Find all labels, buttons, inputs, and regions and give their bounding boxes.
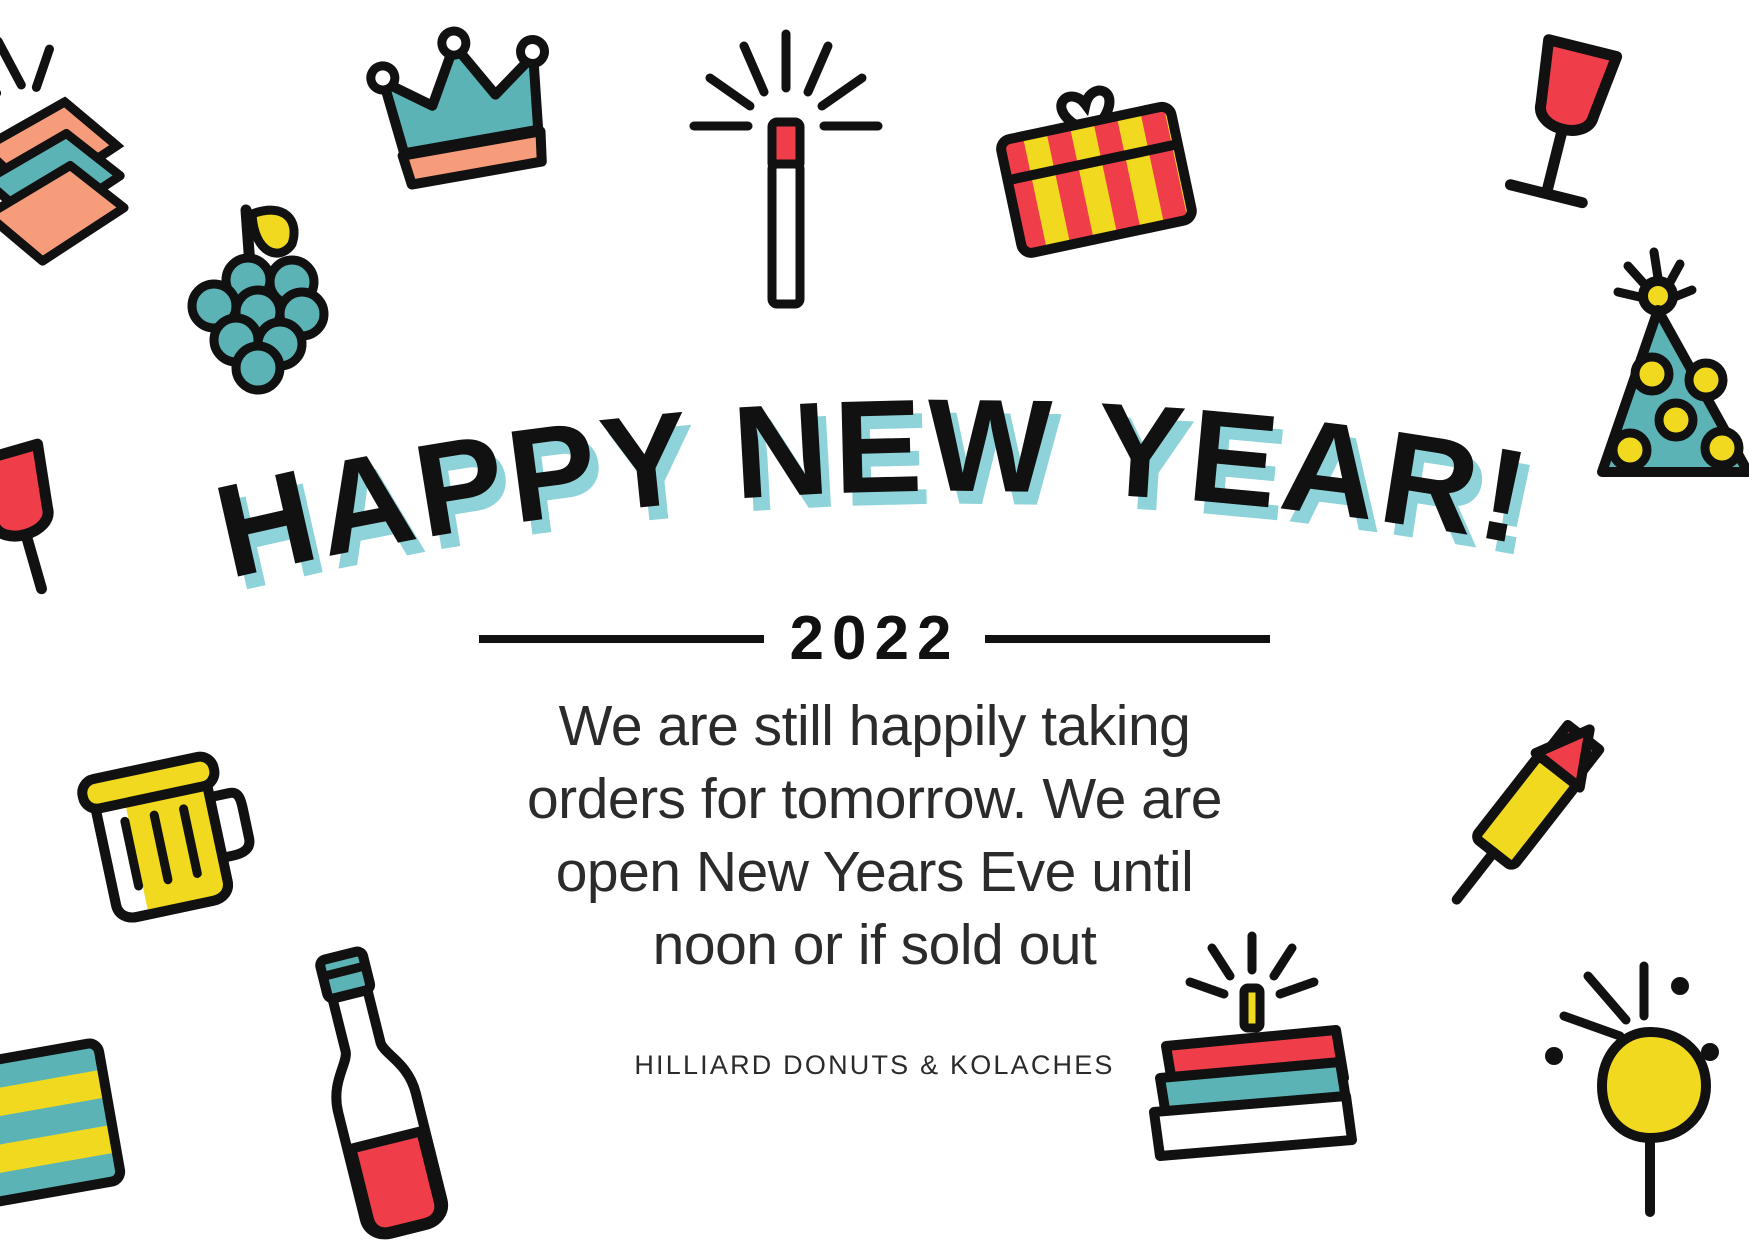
crown-icon [376, 24, 556, 199]
business-name: HILLIARD DONUTS & KOLACHES [0, 1050, 1749, 1081]
message-block: We are still happily taking orders for t… [0, 690, 1749, 982]
message-line: open New Years Eve until [0, 836, 1749, 909]
sparkler-icon [686, 26, 886, 316]
gift-box-icon [990, 78, 1200, 268]
confetti-popper-icon [1524, 960, 1749, 1240]
headline-arc: HAPPY NEW YEAR! HAPPY NEW YEAR! [0, 330, 1749, 630]
champagne-bottle-icon [290, 940, 470, 1240]
birthday-cake-slice-icon [0, 10, 150, 240]
divider-rule-left [479, 635, 764, 643]
wine-glass-icon [1480, 24, 1650, 214]
year-divider-row: 2022 [0, 608, 1749, 670]
divider-rule-right [985, 635, 1270, 643]
message-line: orders for tomorrow. We are [0, 763, 1749, 836]
year-label: 2022 [790, 608, 960, 670]
message-line: noon or if sold out [0, 909, 1749, 982]
message-line: We are still happily taking [0, 690, 1749, 763]
greeting-card: HAPPY NEW YEAR! HAPPY NEW YEAR! 2022 We … [0, 0, 1749, 1242]
